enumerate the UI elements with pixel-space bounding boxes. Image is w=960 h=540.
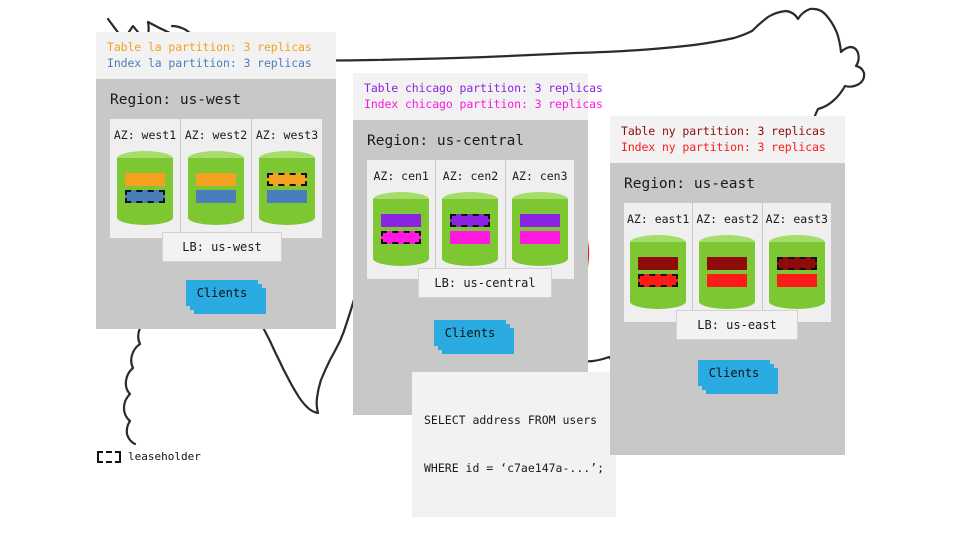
- replica-stripe-table-leaseholder: [777, 257, 817, 270]
- clients-stack-us-west[interactable]: Clients: [186, 280, 268, 316]
- cylinder-body-icon: [699, 242, 755, 302]
- index-partition-label-chicago: Index chicago partition: 3 replicas: [364, 96, 577, 112]
- load-balancer-us-west[interactable]: LB: us-west: [162, 232, 282, 262]
- replica-stripe-index: [267, 190, 307, 203]
- az-label-west3: AZ: west3: [252, 128, 322, 142]
- region-title-us-east: Region: us-east: [610, 163, 845, 203]
- node-cylinder-east3[interactable]: [769, 235, 825, 309]
- cylinder-bottom-icon: [442, 251, 498, 266]
- legend-leaseholder: leaseholder: [97, 450, 201, 463]
- cylinder-bottom-icon: [117, 210, 173, 225]
- replica-stripe-table: [520, 214, 560, 227]
- cylinder-body-icon: [117, 158, 173, 218]
- clients-label-us-west: Clients: [186, 280, 258, 306]
- region-panel-us-east: Table ny partition: 3 replicas Index ny …: [610, 116, 845, 455]
- az-cell-west2[interactable]: AZ: west2: [180, 119, 251, 238]
- cylinder-body-icon: [442, 199, 498, 259]
- table-partition-label-la: Table la partition: 3 replicas: [107, 39, 325, 55]
- region-title-us-west: Region: us-west: [96, 79, 336, 119]
- region-title-us-central: Region: us-central: [353, 120, 588, 160]
- replica-stripe-table: [381, 214, 421, 227]
- replica-stripe-table-leaseholder: [267, 173, 307, 186]
- replica-stripe-index-leaseholder: [381, 231, 421, 244]
- clients-stack-us-east[interactable]: Clients: [698, 360, 780, 396]
- clients-stack-us-central[interactable]: Clients: [434, 320, 516, 356]
- az-label-cen1: AZ: cen1: [367, 169, 435, 183]
- region-header-us-east: Table ny partition: 3 replicas Index ny …: [610, 116, 845, 163]
- cylinder-bottom-icon: [699, 294, 755, 309]
- region-panel-us-central: Table chicago partition: 3 replicas Inde…: [353, 73, 588, 415]
- region-body-us-east: Region: us-east AZ: east1 AZ: east2: [610, 163, 845, 455]
- replica-stripe-index-leaseholder: [125, 190, 165, 203]
- replica-stripe-table: [638, 257, 678, 270]
- replica-stripe-index: [196, 190, 236, 203]
- az-cell-east1[interactable]: AZ: east1: [624, 203, 692, 322]
- node-cylinder-east1[interactable]: [630, 235, 686, 309]
- az-label-cen3: AZ: cen3: [506, 169, 574, 183]
- replica-stripe-index-leaseholder: [638, 274, 678, 287]
- replica-stripe-index: [520, 231, 560, 244]
- az-label-east1: AZ: east1: [624, 212, 692, 226]
- replica-stripe-index: [707, 274, 747, 287]
- replica-stripe-table: [707, 257, 747, 270]
- cylinder-bottom-icon: [630, 294, 686, 309]
- cylinder-body-icon: [630, 242, 686, 302]
- az-cell-cen2[interactable]: AZ: cen2: [435, 160, 504, 279]
- load-balancer-us-east[interactable]: LB: us-east: [676, 310, 798, 340]
- cylinder-body-icon: [259, 158, 315, 218]
- table-partition-label-ny: Table ny partition: 3 replicas: [621, 123, 834, 139]
- cylinder-bottom-icon: [259, 210, 315, 225]
- cylinder-bottom-icon: [512, 251, 568, 266]
- az-strip-us-central: AZ: cen1 AZ: cen2: [367, 160, 574, 279]
- region-header-us-central: Table chicago partition: 3 replicas Inde…: [353, 73, 588, 120]
- az-label-cen2: AZ: cen2: [436, 169, 504, 183]
- region-header-us-west: Table la partition: 3 replicas Index la …: [96, 32, 336, 79]
- node-cylinder-cen3[interactable]: [512, 192, 568, 266]
- az-cell-west1[interactable]: AZ: west1: [110, 119, 180, 238]
- clients-label-us-east: Clients: [698, 360, 770, 386]
- clients-label-us-central: Clients: [434, 320, 506, 346]
- cylinder-bottom-icon: [188, 210, 244, 225]
- index-partition-label-la: Index la partition: 3 replicas: [107, 55, 325, 71]
- cylinder-bottom-icon: [769, 294, 825, 309]
- node-cylinder-west1[interactable]: [117, 151, 173, 225]
- cylinder-bottom-icon: [373, 251, 429, 266]
- az-cell-cen1[interactable]: AZ: cen1: [367, 160, 435, 279]
- az-label-east2: AZ: east2: [693, 212, 761, 226]
- az-cell-cen3[interactable]: AZ: cen3: [505, 160, 574, 279]
- az-label-west1: AZ: west1: [110, 128, 180, 142]
- replica-stripe-index: [450, 231, 490, 244]
- sql-line-2: WHERE id = ‘c7ae147a-...’;: [424, 460, 604, 476]
- table-partition-label-chicago: Table chicago partition: 3 replicas: [364, 80, 577, 96]
- cylinder-body-icon: [373, 199, 429, 259]
- node-cylinder-east2[interactable]: [699, 235, 755, 309]
- replica-stripe-table: [125, 173, 165, 186]
- cylinder-body-icon: [769, 242, 825, 302]
- diagram-canvas: 1 2 3 4 5 Table la partition: 3 replicas…: [0, 0, 960, 540]
- az-cell-east2[interactable]: AZ: east2: [692, 203, 761, 322]
- az-cell-east3[interactable]: AZ: east3: [762, 203, 831, 322]
- az-cell-west3[interactable]: AZ: west3: [251, 119, 322, 238]
- az-label-east3: AZ: east3: [763, 212, 831, 226]
- node-cylinder-west2[interactable]: [188, 151, 244, 225]
- cylinder-body-icon: [512, 199, 568, 259]
- sql-query-note: SELECT address FROM users WHERE id = ‘c7…: [412, 372, 616, 517]
- az-strip-us-east: AZ: east1 AZ: east2: [624, 203, 831, 322]
- replica-stripe-index: [777, 274, 817, 287]
- legend-label: leaseholder: [128, 450, 201, 463]
- load-balancer-us-central[interactable]: LB: us-central: [418, 268, 552, 298]
- az-label-west2: AZ: west2: [181, 128, 251, 142]
- replica-stripe-table-leaseholder: [450, 214, 490, 227]
- replica-stripe-table: [196, 173, 236, 186]
- node-cylinder-cen2[interactable]: [442, 192, 498, 266]
- index-partition-label-ny: Index ny partition: 3 replicas: [621, 139, 834, 155]
- node-cylinder-cen1[interactable]: [373, 192, 429, 266]
- dashed-rectangle-icon: [97, 451, 121, 463]
- az-strip-us-west: AZ: west1 AZ: west2: [110, 119, 322, 238]
- cylinder-body-icon: [188, 158, 244, 218]
- sql-line-1: SELECT address FROM users: [424, 412, 604, 428]
- node-cylinder-west3[interactable]: [259, 151, 315, 225]
